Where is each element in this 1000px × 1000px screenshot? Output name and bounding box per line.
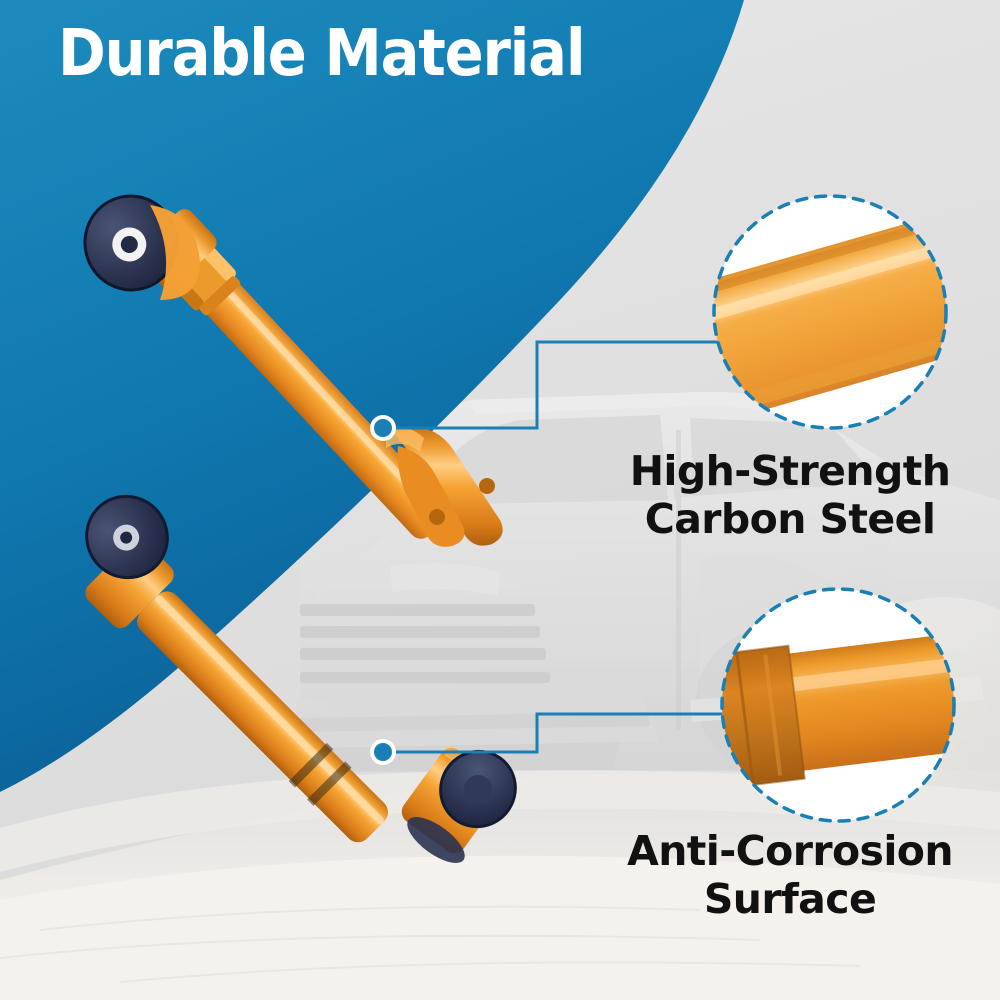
callout-label-2: Anti-Corrosion Surface	[590, 828, 990, 924]
page-title: Durable Material	[58, 22, 584, 86]
callout-label-1: High-Strength Carbon Steel	[590, 448, 990, 544]
infographic-canvas: Durable Material High-Strength Carbon St…	[0, 0, 1000, 1000]
